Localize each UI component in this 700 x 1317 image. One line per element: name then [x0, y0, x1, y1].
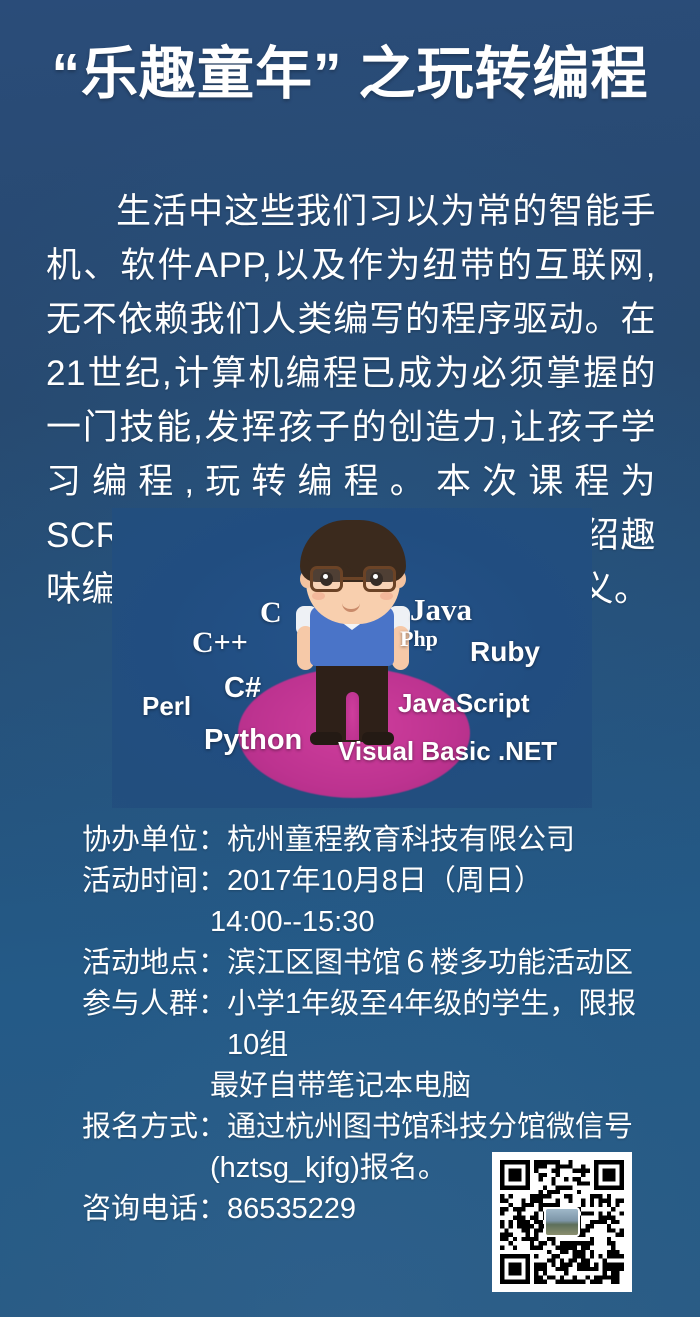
detail-value: 通过杭州图书馆科技分馆微信号 — [227, 1107, 662, 1148]
detail-label: 报名方式： — [82, 1107, 227, 1148]
detail-continuation: 最好自带笔记本电脑 — [82, 1066, 662, 1107]
detail-continuation: 14:00--15:30 — [82, 902, 662, 943]
poster-canvas: “乐趣童年”之玩转编程 生活中这些我们习以为常的智能手机、软件APP,以及作为纽… — [0, 0, 700, 1317]
wechat-qr-code[interactable] — [492, 1152, 632, 1292]
language-label: Perl — [142, 691, 191, 722]
detail-value: 滨江区图书馆６楼多功能活动区 — [227, 943, 662, 984]
leg-gap — [346, 692, 359, 740]
detail-value: 小学1年级至4年级的学生，限报10组 — [227, 984, 662, 1066]
detail-value: 杭州童程教育科技有限公司 — [227, 820, 662, 861]
detail-value: 2017年10月8日（周日） — [227, 861, 662, 902]
detail-row: 报名方式：通过杭州图书馆科技分馆微信号 — [82, 1107, 662, 1148]
language-label: C++ — [192, 626, 248, 660]
detail-row: 活动时间：2017年10月8日（周日） — [82, 861, 662, 902]
glasses-bridge — [343, 577, 363, 580]
cheek-right — [380, 592, 393, 600]
language-label: C# — [224, 672, 261, 705]
qr-center-logo — [544, 1207, 580, 1237]
language-label: Python — [204, 724, 302, 757]
cheek-left — [312, 592, 325, 600]
detail-label: 参与人群： — [82, 984, 227, 1025]
page-title: “乐趣童年”之玩转编程 — [0, 44, 700, 106]
glasses-lens-right — [363, 566, 396, 592]
detail-row: 活动地点：滨江区图书馆６楼多功能活动区 — [82, 943, 662, 984]
language-label: Java — [410, 592, 472, 628]
detail-row: 参与人群：小学1年级至4年级的学生，限报10组 — [82, 984, 662, 1066]
glasses-lens-left — [310, 566, 343, 592]
page-title-rest: 之玩转编程 — [359, 42, 649, 106]
detail-label: 活动地点： — [82, 943, 227, 984]
page-title-quoted: “乐趣童年” — [52, 42, 343, 106]
language-label: Visual Basic .NET — [338, 736, 557, 767]
detail-label: 协办单位： — [82, 820, 227, 861]
programming-illustration: CJavaPhpRubyC++C#PerlJavaScriptPythonVis… — [112, 508, 592, 808]
glasses-icon — [310, 566, 396, 592]
language-label: JavaScript — [398, 688, 530, 719]
detail-label: 咨询电话： — [82, 1189, 227, 1230]
language-label: Ruby — [470, 636, 540, 668]
language-label: Php — [400, 626, 438, 652]
detail-row: 协办单位：杭州童程教育科技有限公司 — [82, 820, 662, 861]
language-label: C — [260, 596, 282, 630]
detail-label: 活动时间： — [82, 861, 227, 902]
